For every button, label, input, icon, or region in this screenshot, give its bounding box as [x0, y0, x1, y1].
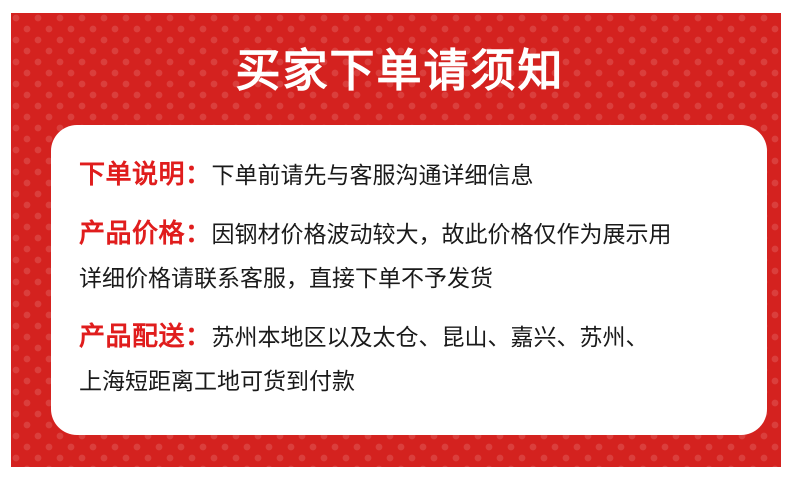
section-text-product-price-2: 详细价格请联系客服，直接下单不予发货	[79, 266, 493, 292]
red-banner-panel: 买家下单请须知 下单说明：下单前请先与客服沟通详细信息 产品价格：因钢材价格波动…	[11, 13, 781, 467]
page-root: 买家下单请须知 下单说明：下单前请先与客服沟通详细信息 产品价格：因钢材价格波动…	[0, 0, 790, 493]
section-text-product-delivery-1: 苏州本地区以及太仓、昆山、嘉兴、苏州、	[212, 325, 649, 351]
section-label-product-price: 产品价格：	[79, 219, 212, 249]
section-text-order-instructions-1: 下单前请先与客服沟通详细信息	[212, 163, 534, 189]
page-title: 买家下单请须知	[11, 41, 781, 101]
notice-line: 产品价格：因钢材价格波动较大，故此价格仅作为展示用	[79, 212, 749, 257]
notice-line: 下单说明：下单前请先与客服沟通详细信息	[79, 153, 749, 198]
notice-line: 上海短距离工地可货到付款	[79, 360, 749, 404]
notice-card-content: 下单说明：下单前请先与客服沟通详细信息 产品价格：因钢材价格波动较大，故此价格仅…	[79, 153, 749, 404]
notice-card: 下单说明：下单前请先与客服沟通详细信息 产品价格：因钢材价格波动较大，故此价格仅…	[51, 125, 767, 435]
notice-section-product-delivery: 产品配送：苏州本地区以及太仓、昆山、嘉兴、苏州、 上海短距离工地可货到付款	[79, 315, 749, 404]
notice-line: 产品配送：苏州本地区以及太仓、昆山、嘉兴、苏州、	[79, 315, 749, 360]
section-label-order-instructions: 下单说明：	[79, 160, 212, 190]
notice-line: 详细价格请联系客服，直接下单不予发货	[79, 257, 749, 301]
notice-section-product-price: 产品价格：因钢材价格波动较大，故此价格仅作为展示用 详细价格请联系客服，直接下单…	[79, 212, 749, 301]
section-text-product-delivery-2: 上海短距离工地可货到付款	[79, 369, 355, 395]
notice-section-order-instructions: 下单说明：下单前请先与客服沟通详细信息	[79, 153, 749, 198]
section-label-product-delivery: 产品配送：	[79, 322, 212, 352]
section-text-product-price-1: 因钢材价格波动较大，故此价格仅作为展示用	[212, 222, 672, 248]
